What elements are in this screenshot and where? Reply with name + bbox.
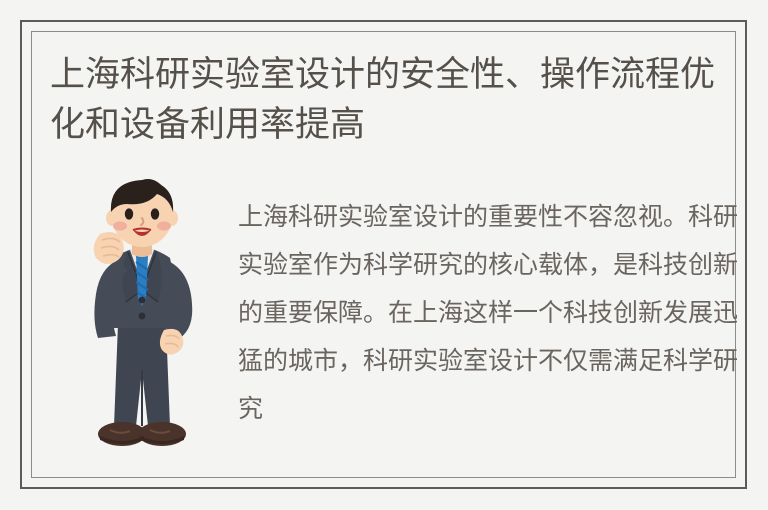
article-body-section: 上海科研实验室设计的重要性不容忽视。科研实验室作为科学研究的核心载体，是科技创新… bbox=[50, 168, 715, 468]
businessman-raised-fist-illustration bbox=[78, 174, 206, 466]
article-content: 上海科研实验室设计的安全性、操作流程优化和设备利用率提高 bbox=[32, 32, 735, 477]
inner-frame-border: 上海科研实验室设计的安全性、操作流程优化和设备利用率提高 bbox=[31, 31, 736, 478]
outer-frame-border: 上海科研实验室设计的安全性、操作流程优化和设备利用率提高 bbox=[20, 20, 747, 489]
page-root: 上海科研实验室设计的安全性、操作流程优化和设备利用率提高 bbox=[0, 0, 768, 510]
page-title: 上海科研实验室设计的安全性、操作流程优化和设备利用率提高 bbox=[50, 50, 740, 150]
article-body-text: 上海科研实验室设计的重要性不容忽视。科研实验室作为科学研究的核心载体，是科技创新… bbox=[238, 193, 738, 433]
